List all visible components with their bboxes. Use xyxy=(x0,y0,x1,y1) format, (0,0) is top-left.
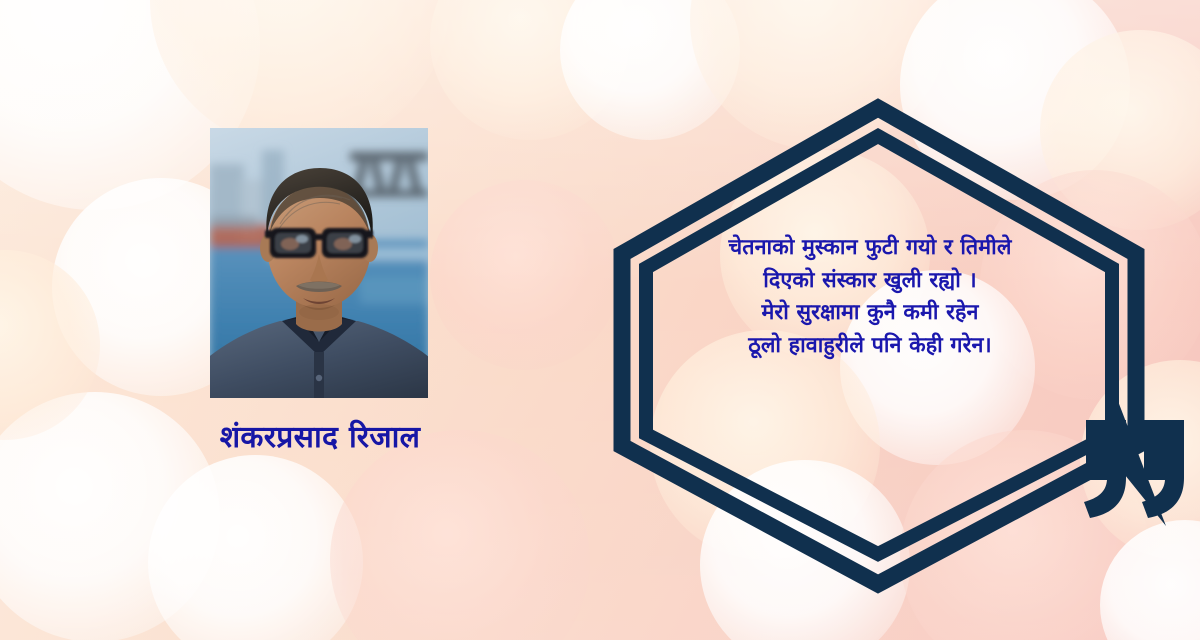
portrait-photo xyxy=(210,128,428,398)
quote-line: मेरो सुरक्षामा कुनै कमी रहेन xyxy=(660,297,1080,330)
quote-line: दिएको संस्कार खुली रह्यो । xyxy=(660,265,1080,298)
quote-line: चेतनाको मुस्कान फुटी गयो र तिमीले xyxy=(660,232,1080,265)
closing-quotation-mark-icon xyxy=(1082,418,1194,522)
quote-text: चेतनाको मुस्कान फुटी गयो र तिमीले दिएको … xyxy=(660,232,1080,363)
person-name: शंकरप्रसाद रिजाल xyxy=(150,415,490,456)
quotation-mark-svg xyxy=(1082,418,1194,522)
quote-line: ठूलो हावाहुरीले पनि केही गरेन। xyxy=(660,330,1080,363)
quote-card: शंकरप्रसाद रिजाल चेतनाको मुस्कान फुटी गय… xyxy=(0,0,1200,640)
portrait-image xyxy=(210,128,428,398)
